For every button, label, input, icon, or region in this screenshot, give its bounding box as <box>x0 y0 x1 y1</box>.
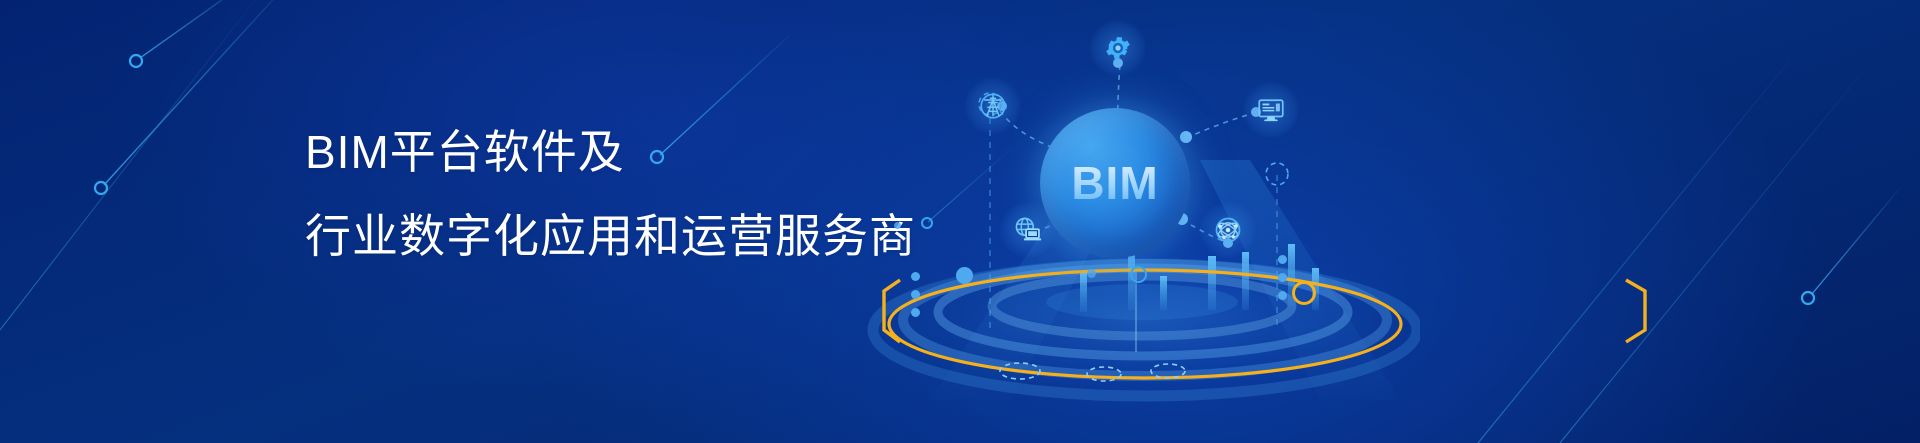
decor-dot-1 <box>911 272 920 281</box>
decor-line-left-1 <box>130 0 250 67</box>
bracket-right <box>1626 280 1645 342</box>
gear-icon <box>1103 33 1133 63</box>
decor-line-left-2 <box>95 0 300 194</box>
node-globe-laptop[interactable] <box>1000 202 1056 258</box>
decor-line-right-2 <box>1560 75 1900 443</box>
bim-hero-banner: BIM平台软件及 行业数字化应用和运营服务商 <box>0 0 1920 443</box>
decor-dot-4 <box>1278 255 1287 264</box>
power-tower-icon <box>978 91 1008 121</box>
node-monitor[interactable] <box>1243 82 1299 138</box>
decor-dot-large <box>956 267 973 284</box>
decor-line-right-1 <box>1478 60 1790 443</box>
decor-line-left-3 <box>0 0 255 330</box>
page-title: BIM平台软件及 行业数字化应用和运营服务商 <box>305 118 925 270</box>
decor-dot-5 <box>1278 273 1287 282</box>
headline-line-2: 行业数字化应用和运营服务商 <box>305 202 925 270</box>
headline-line-1: BIM平台软件及 <box>305 118 925 186</box>
globe-laptop-icon <box>1012 214 1044 246</box>
monitor-icon <box>1256 95 1286 125</box>
decor-dot-8 <box>894 222 901 229</box>
node-gear[interactable] <box>1090 20 1146 76</box>
decor-dot-6 <box>1278 291 1287 300</box>
node-power-tower[interactable] <box>965 78 1021 134</box>
bim-sphere-label: BIM <box>1071 156 1158 210</box>
node-network[interactable] <box>1200 202 1256 258</box>
decor-line-mid-low <box>922 150 1010 228</box>
stem-right-cap <box>1266 163 1288 185</box>
network-icon <box>1212 214 1244 246</box>
decor-dot-7 <box>1087 269 1096 278</box>
bim-sphere: BIM <box>1040 108 1190 258</box>
decor-dot-3 <box>911 308 920 317</box>
decor-ring-yellow <box>1292 281 1316 305</box>
decor-ring-dot-1 <box>1130 266 1147 283</box>
decor-dot-2 <box>911 290 920 299</box>
